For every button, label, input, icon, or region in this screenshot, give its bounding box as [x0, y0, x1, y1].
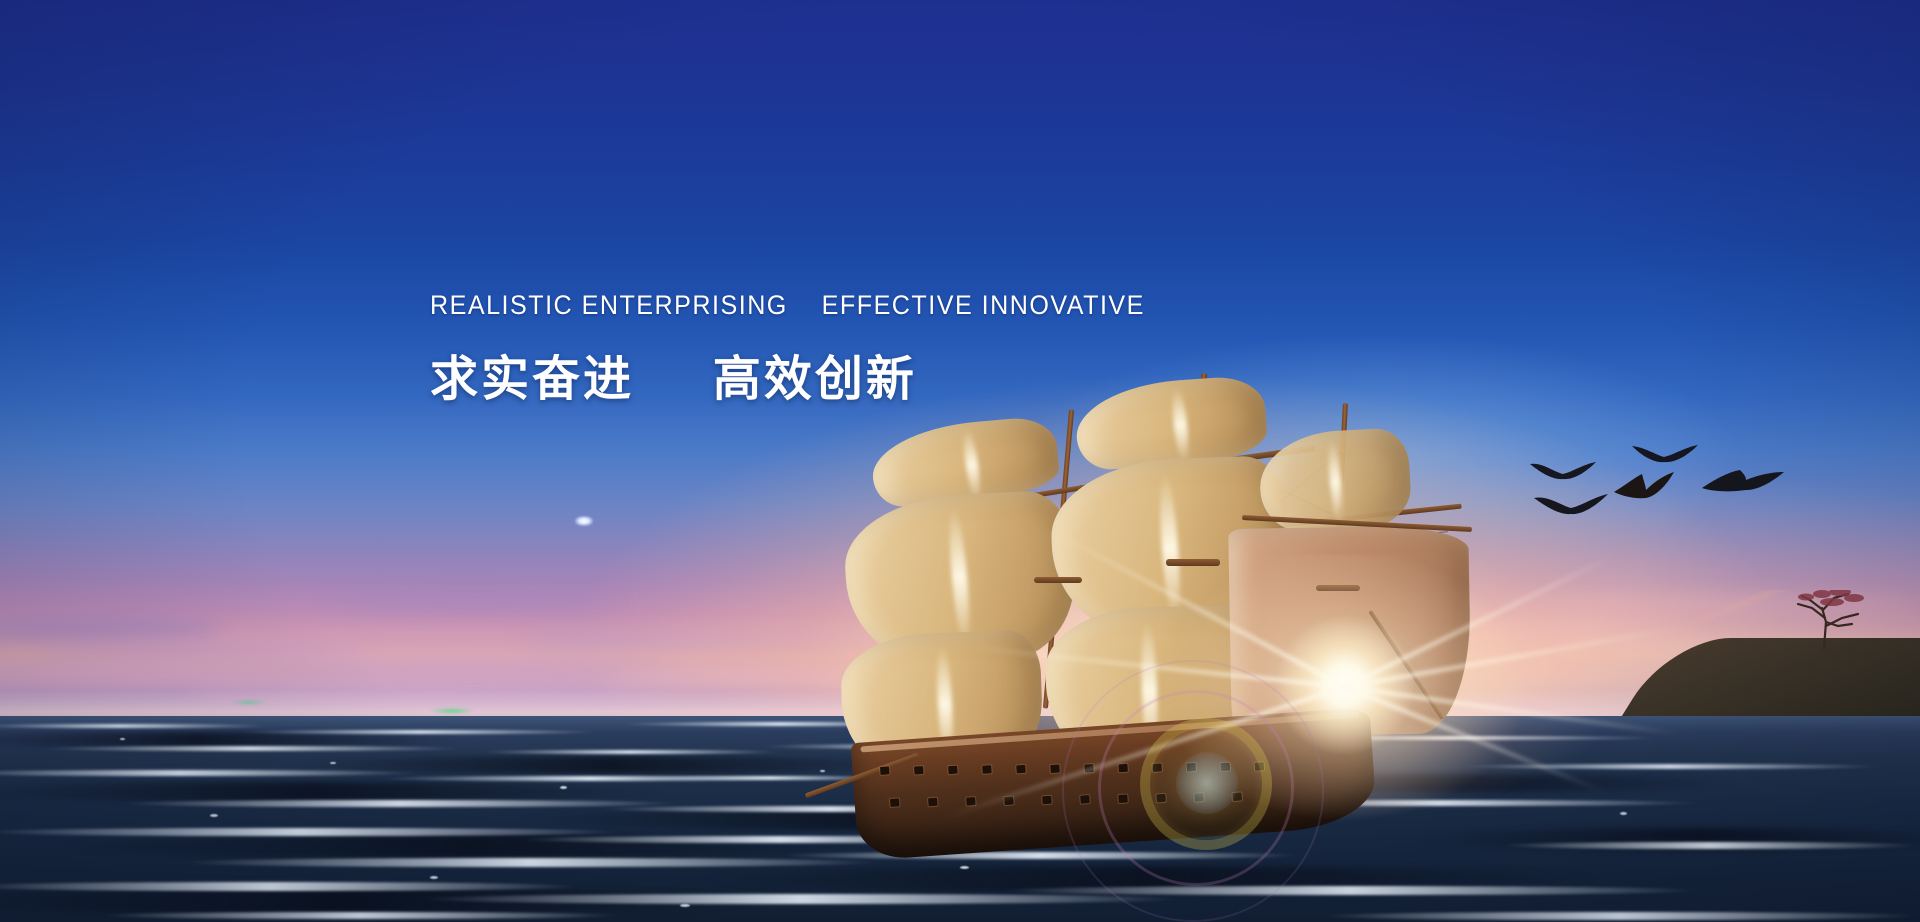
tree-icon: [1768, 590, 1888, 652]
english-tagline: REALISTIC ENTERPRISING EFFECTIVE INNOVAT…: [430, 290, 1145, 321]
bird-icon: [1532, 492, 1610, 522]
horizon-glint-icon: [430, 708, 474, 714]
island-icon: [1620, 590, 1920, 720]
bird-icon: [1630, 444, 1700, 468]
hero-banner: REALISTIC ENTERPRISING EFFECTIVE INNOVAT…: [0, 0, 1920, 922]
bird-icon: [1700, 468, 1786, 498]
star-icon: [575, 516, 593, 526]
chinese-tagline: 求实奋进 高效创新: [430, 339, 1199, 409]
horizon-glint-secondary-icon: [232, 700, 266, 705]
ship-icon: [930, 395, 1490, 845]
bird-icon: [1528, 460, 1598, 486]
tagline-block: REALISTIC ENTERPRISING EFFECTIVE INNOVAT…: [430, 290, 1199, 409]
bird-icon: [1612, 470, 1678, 504]
